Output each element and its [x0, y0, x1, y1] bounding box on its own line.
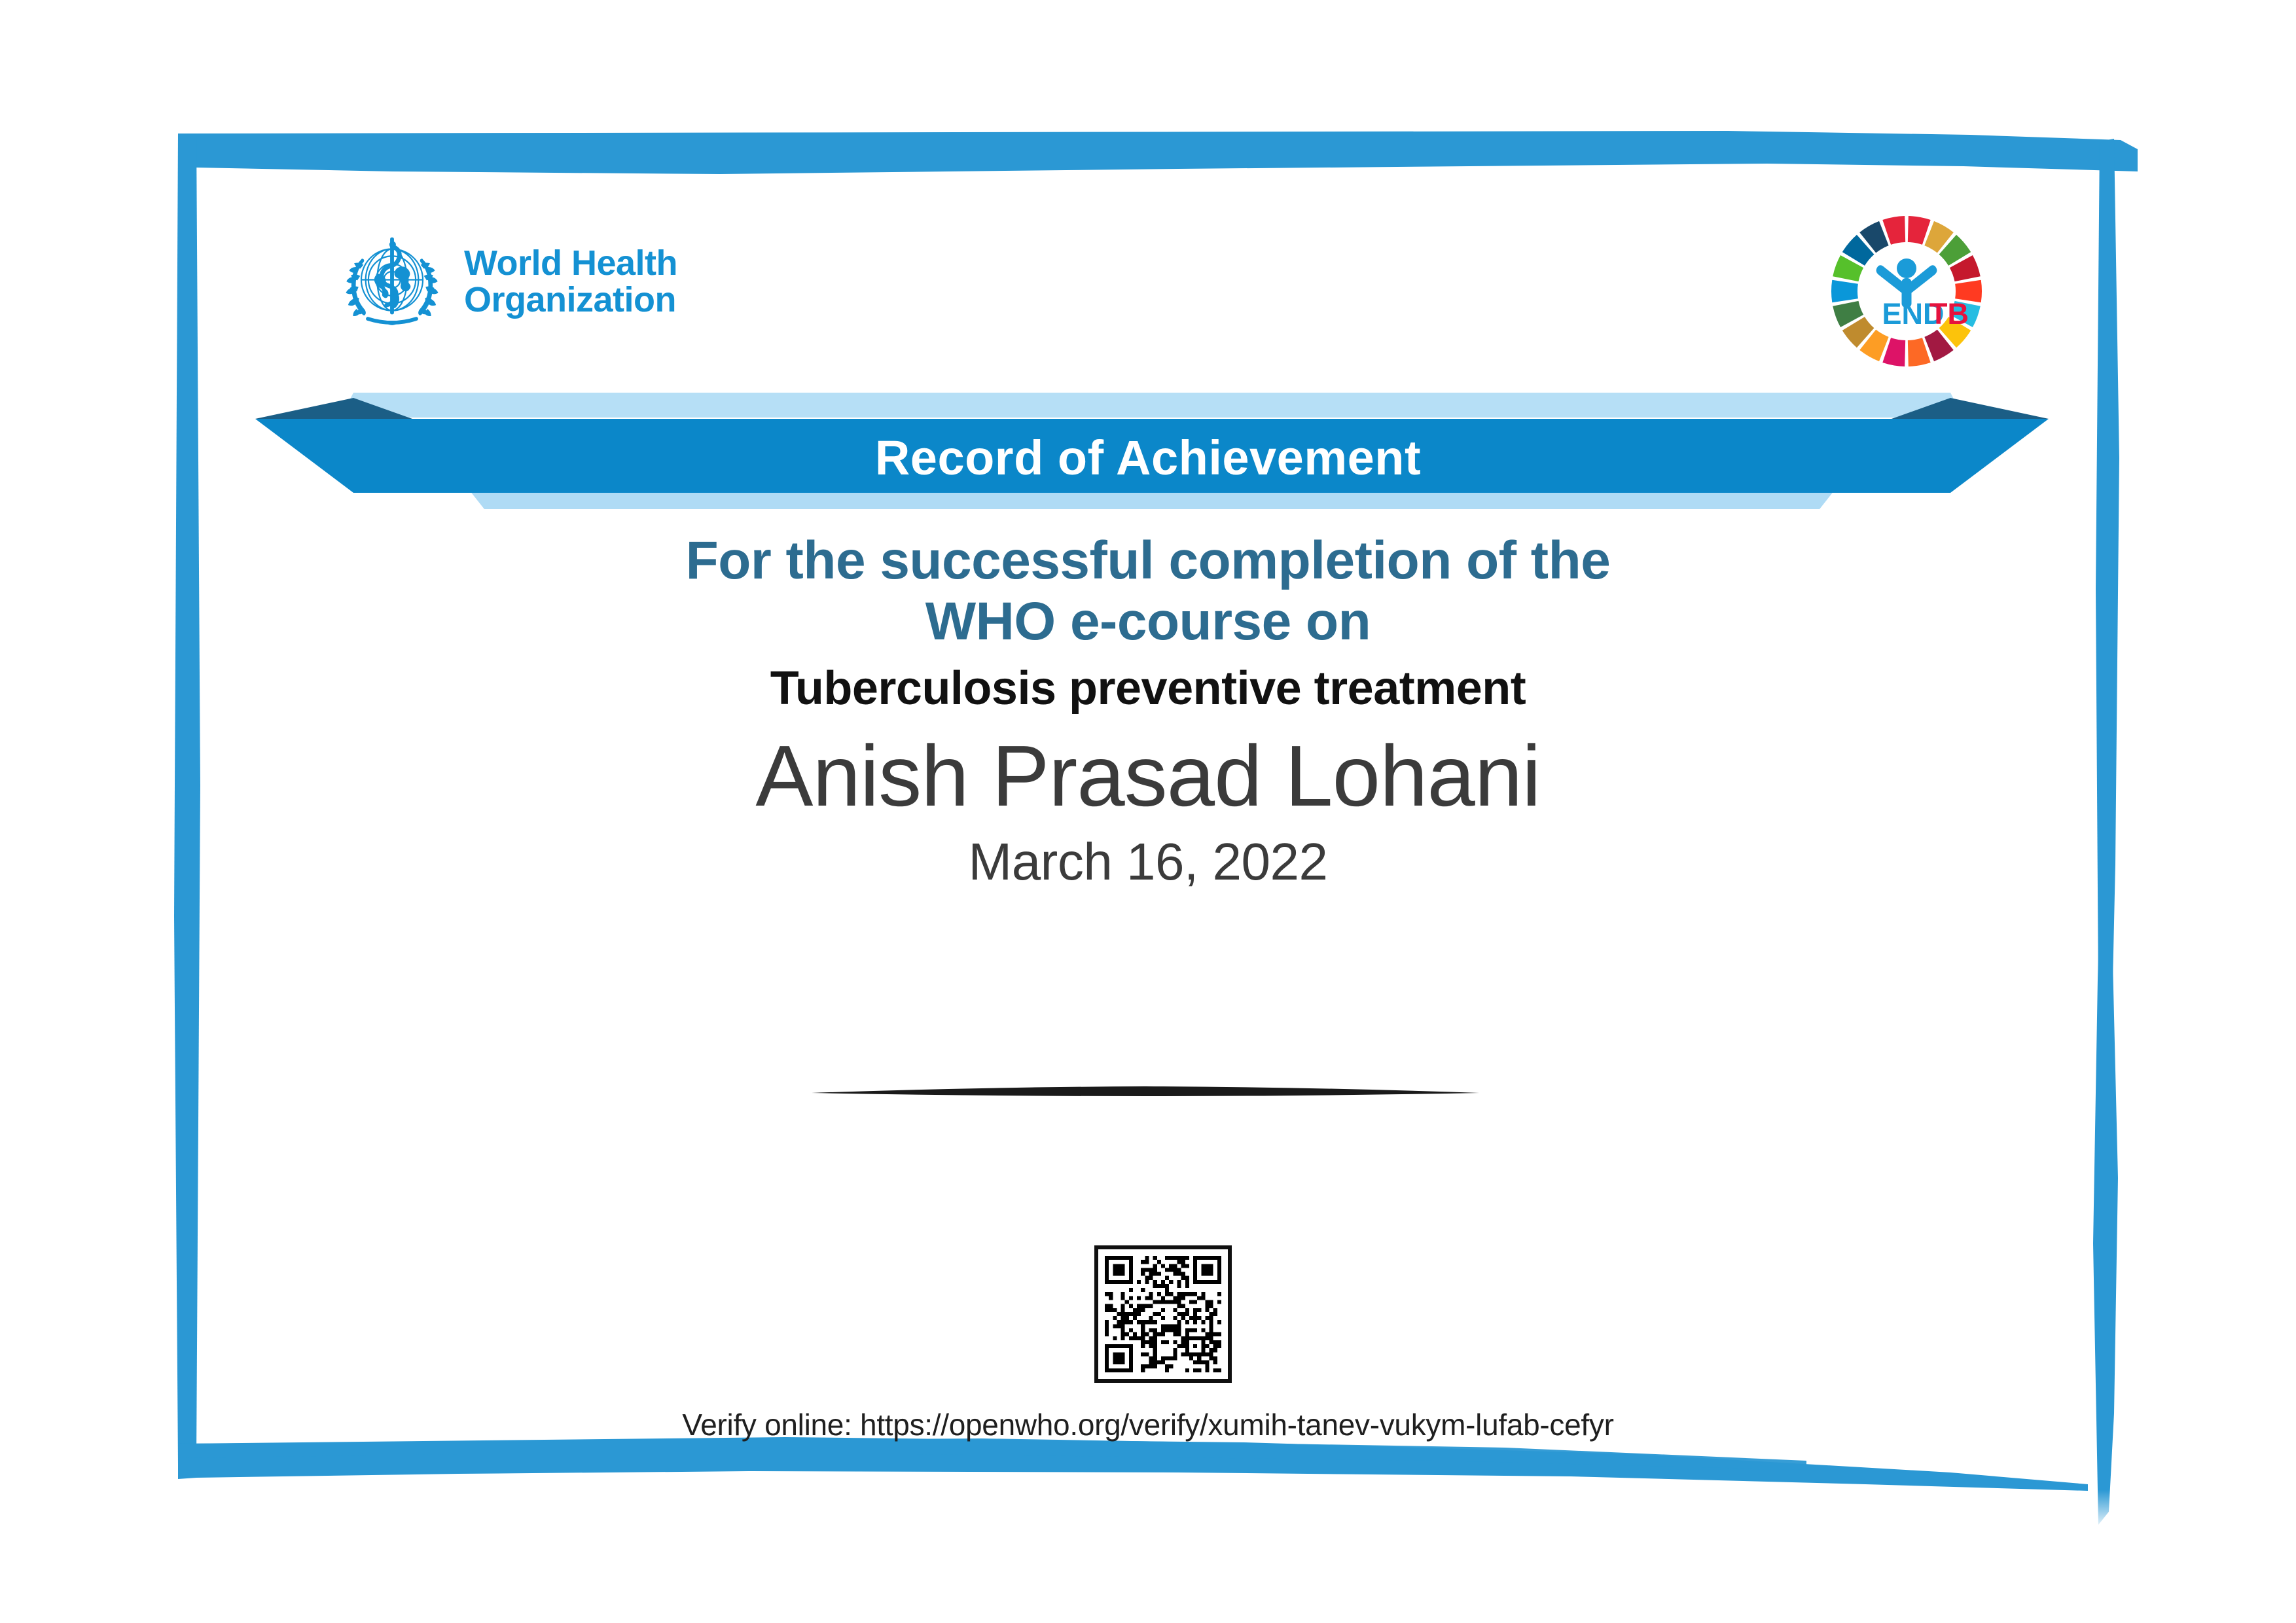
end-tb-text-tb: TB [1929, 297, 1969, 330]
certificate-body: For the successful completion of the WHO… [0, 530, 2296, 892]
ribbon-light-upper [340, 393, 1964, 418]
border-top-stroke [178, 131, 2138, 174]
course-title: Tuberculosis preventive treatment [0, 662, 2296, 715]
divider-line [812, 1083, 1479, 1103]
banner-title: Record of Achievement [0, 419, 2296, 497]
certificate-page: World HealthOrganization END TB Record o… [0, 0, 2296, 1623]
recipient-name: Anish Prasad Lohani [0, 730, 2296, 823]
end-tb-logo-icon: END TB [1825, 209, 1988, 373]
border-bottom-stroke-upper [178, 1438, 1806, 1470]
who-emblem-icon [337, 226, 447, 336]
who-wordmark: World HealthOrganization [464, 245, 677, 318]
qr-code[interactable] [1094, 1245, 1232, 1383]
border-bottom-stroke [178, 1437, 2088, 1491]
who-wordmark-line2: Organization [464, 280, 676, 319]
completion-date: March 16, 2022 [0, 832, 2296, 892]
completion-statement: For the successful completion of the WHO… [0, 530, 2296, 652]
who-wordmark-line1: World Health [464, 243, 677, 283]
verify-url-text: Verify online: https://openwho.org/verif… [0, 1407, 2296, 1442]
who-logo: World HealthOrganization [337, 223, 704, 340]
